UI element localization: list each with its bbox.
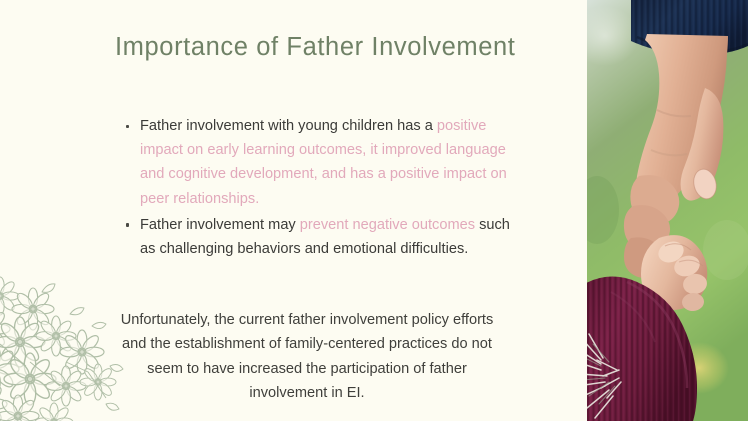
slide-content: Importance of Father Involvement Father …	[0, 0, 587, 421]
bullet-marker-icon	[126, 125, 129, 128]
bullet-list: Father involvement with young children h…	[121, 114, 513, 263]
plain-text: Father involvement may	[140, 217, 300, 233]
closing-paragraph: Unfortunately, the current father involv…	[108, 308, 506, 406]
bullet-marker-icon	[126, 223, 129, 226]
highlighted-text: prevent negative outcomes	[300, 217, 475, 233]
adult-and-child-holding-hands-photo	[587, 0, 748, 421]
page-title: Importance of Father Involvement	[115, 33, 515, 62]
plain-text: Father involvement with young children h…	[140, 118, 437, 134]
list-item: Father involvement with young children h…	[121, 114, 513, 211]
bullet-item-text-2: Father involvement may prevent negative …	[140, 217, 510, 257]
bullet-item-text-1: Father involvement with young children h…	[140, 118, 507, 207]
list-item: Father involvement may prevent negative …	[121, 213, 513, 261]
slide: Importance of Father Involvement Father …	[0, 0, 748, 421]
